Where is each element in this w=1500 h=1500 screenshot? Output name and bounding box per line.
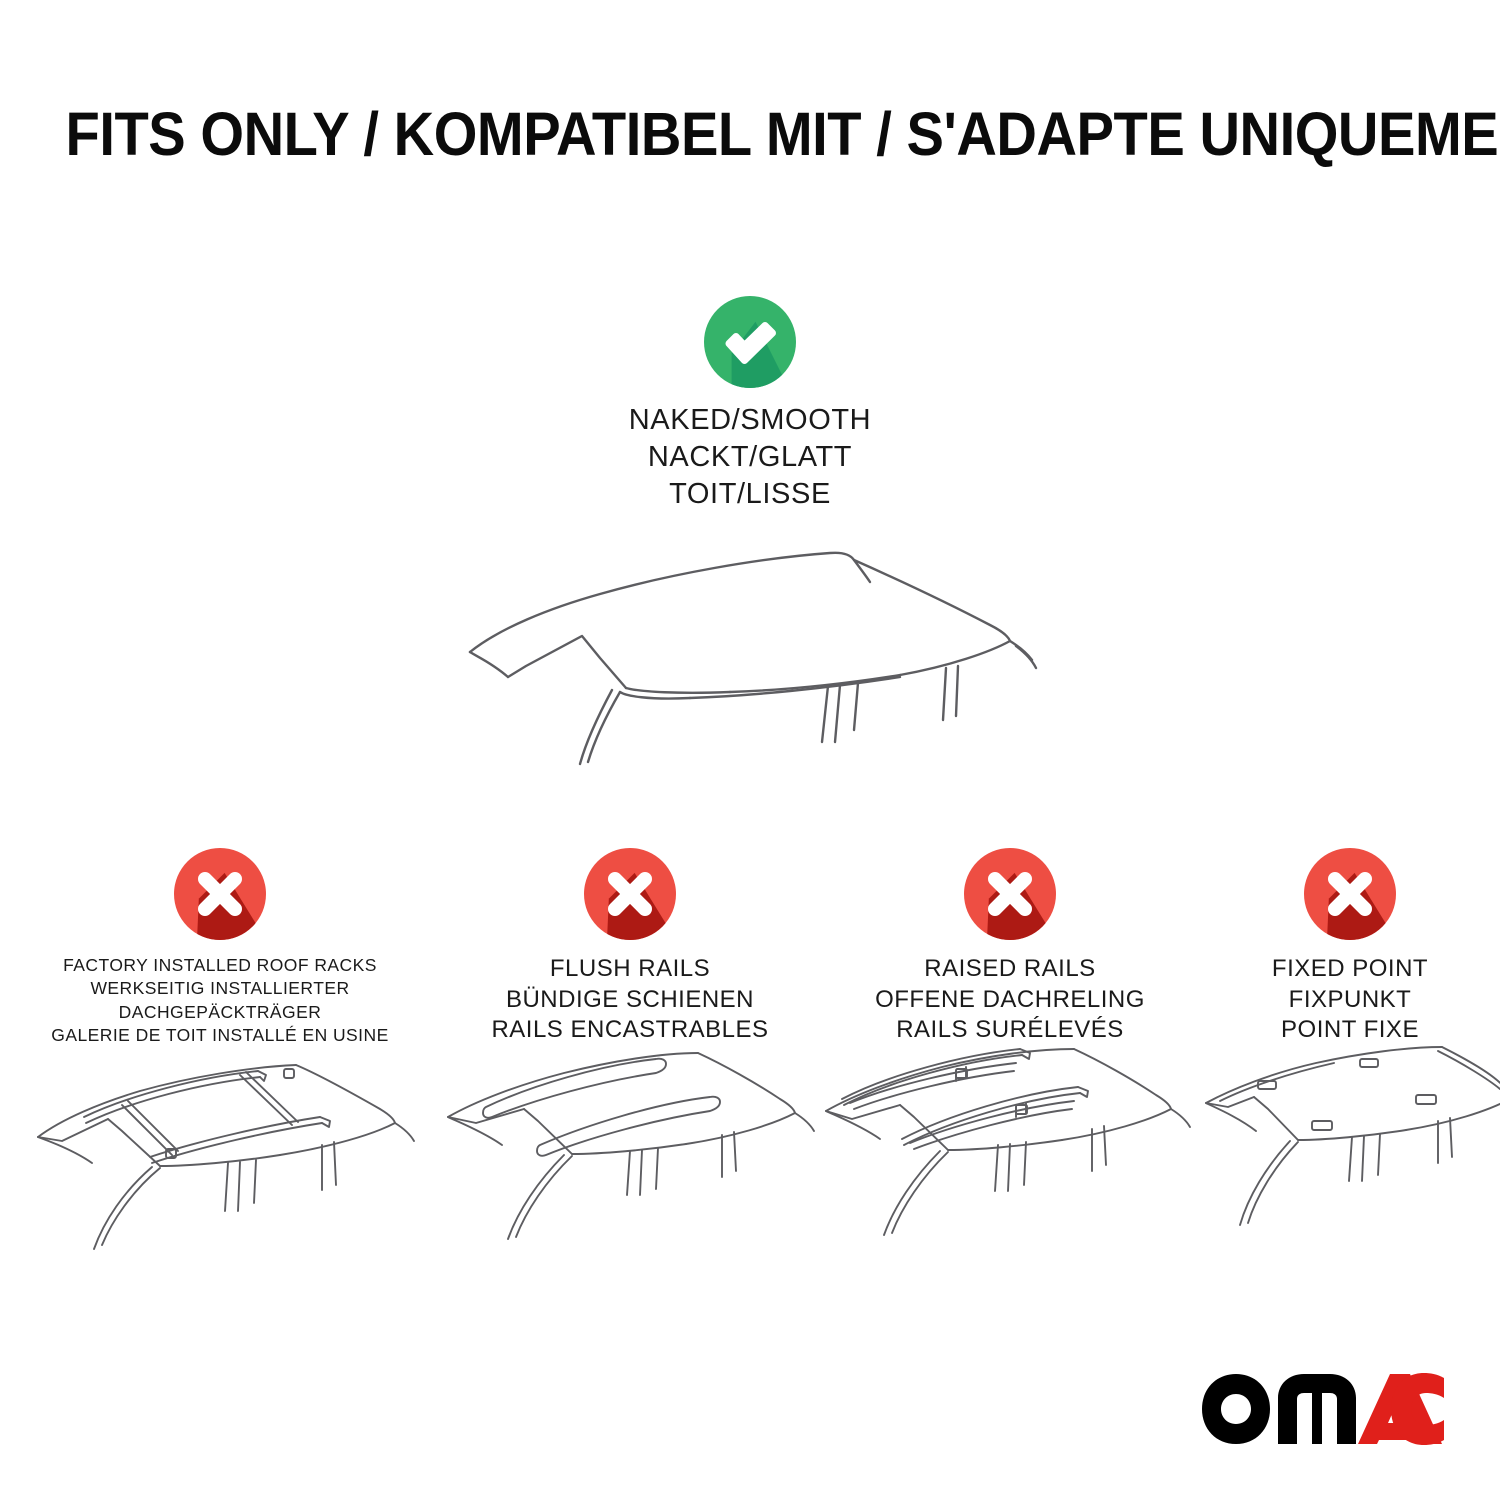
incompatible-item-raised-rails: RAISED RAILS OFFENE DACHRELING RAILS SUR… [820,848,1200,1046]
compatible-roof-type-caption: NAKED/SMOOTH NACKT/GLATT TOIT/LISSE [430,402,1070,512]
caption-line-en: FACTORY INSTALLED ROOF RACKS [0,954,440,977]
caption-line-fr: POINT FIXE [1200,1015,1500,1046]
logo-letter-m [1278,1374,1356,1444]
omac-logo [1200,1370,1448,1448]
badge-wrap [1200,848,1500,948]
page-title-bar: FITS ONLY / KOMPATIBEL MIT / S'ADAPTE UN… [0,104,1500,165]
caption-line-fr: TOIT/LISSE [430,476,1070,513]
caption-line-de: BÜNDIGE SCHIENEN [440,985,820,1016]
incompatible-item-fixed-point: FIXED POINT FIXPUNKT POINT FIXE [1200,848,1500,1046]
caption-line-fr: RAILS ENCASTRABLES [440,1015,820,1046]
caption-line-de-2: DACHGEPÄCKTRÄGER [0,1001,440,1024]
caption-line-de: NACKT/GLATT [430,439,1070,476]
x-mark-glyph [964,848,1056,940]
incompatible-item-caption: FIXED POINT FIXPUNKT POINT FIXE [1200,954,1500,1046]
badge-wrap [820,848,1200,948]
caption-line-en: RAISED RAILS [820,954,1200,985]
badge-wrap [440,848,820,948]
incompatible-item-caption: FACTORY INSTALLED ROOF RACKS WERKSEITIG … [0,954,440,1048]
incompatible-item-flush-rails: FLUSH RAILS BÜNDIGE SCHIENEN RAILS ENCAS… [440,848,820,1046]
caption-line-fr: RAILS SURÉLEVÉS [820,1015,1200,1046]
incompatible-item-caption: FLUSH RAILS BÜNDIGE SCHIENEN RAILS ENCAS… [440,954,820,1046]
x-circle-icon [964,848,1056,940]
badge-wrap [0,848,440,948]
incompatible-item-factory-installed-roof-racks: FACTORY INSTALLED ROOF RACKS WERKSEITIG … [0,848,440,1048]
check-circle-icon [704,296,796,388]
caption-line-de-1: WERKSEITIG INSTALLIERTER [0,977,440,1000]
roof-with-fixed-points-illustration [1200,1045,1500,1265]
x-circle-icon [174,848,266,940]
page-title: FITS ONLY / KOMPATIBEL MIT / S'ADAPTE UN… [66,104,1500,165]
logo-letter-o [1202,1374,1270,1444]
incompatible-roof-illustrations-row [0,1045,1500,1265]
x-mark-glyph [1304,848,1396,940]
caption-line-en: FLUSH RAILS [440,954,820,985]
caption-line-de: FIXPUNKT [1200,985,1500,1016]
incompatible-roof-types-row: FACTORY INSTALLED ROOF RACKS WERKSEITIG … [0,848,1500,1048]
caption-line-en: NAKED/SMOOTH [430,402,1070,439]
compatible-roof-type-block: NAKED/SMOOTH NACKT/GLATT TOIT/LISSE [430,296,1070,512]
roof-with-raised-rails-illustration [820,1045,1200,1265]
x-circle-icon [584,848,676,940]
x-mark-glyph [174,848,266,940]
x-mark-glyph [584,848,676,940]
check-mark-glyph [704,296,796,388]
incompatible-item-caption: RAISED RAILS OFFENE DACHRELING RAILS SUR… [820,954,1200,1046]
roof-with-rails-and-crossbars-illustration [0,1045,440,1265]
caption-line-de: OFFENE DACHRELING [820,985,1200,1016]
roof-with-flush-rails-illustration [440,1045,820,1265]
x-circle-icon [1304,848,1396,940]
naked-smooth-roof-illustration [430,520,1070,790]
caption-line-en: FIXED POINT [1200,954,1500,985]
